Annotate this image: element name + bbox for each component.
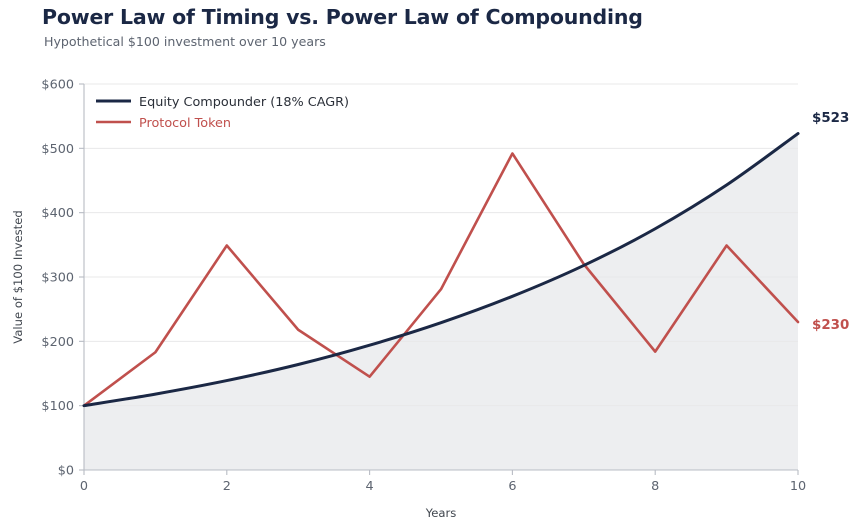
y-tick-label: $600 bbox=[41, 78, 74, 93]
x-axis-title: Years bbox=[425, 506, 457, 520]
legend-label-protocol-token: Protocol Token bbox=[139, 116, 231, 131]
x-tick-label: 2 bbox=[223, 479, 231, 494]
end-value-label-protocol: $230 bbox=[812, 318, 849, 333]
x-tick-label: 0 bbox=[80, 479, 88, 494]
x-tick-label: 6 bbox=[508, 479, 516, 494]
chart-legend: Equity Compounder (18% CAGR) Protocol To… bbox=[96, 95, 349, 131]
y-tick-label: $500 bbox=[41, 142, 74, 157]
y-tick-label: $100 bbox=[41, 399, 74, 414]
chart-figure: Power Law of Timing vs. Power Law of Com… bbox=[0, 0, 860, 531]
equity-area-fill bbox=[84, 134, 798, 470]
x-axis-tick-labels: 0246810 bbox=[80, 479, 806, 494]
x-axis-ticks bbox=[84, 470, 798, 475]
y-tick-label: $200 bbox=[41, 335, 74, 350]
x-tick-label: 4 bbox=[366, 479, 374, 494]
y-tick-label: $400 bbox=[41, 206, 74, 221]
legend-label-equity-compounder: Equity Compounder (18% CAGR) bbox=[139, 95, 349, 110]
end-value-label-equity: $523 bbox=[812, 111, 849, 126]
y-tick-label: $300 bbox=[41, 271, 74, 286]
x-tick-label: 10 bbox=[790, 479, 806, 494]
plot-area: $0$100$200$300$400$500$600 0246810 Value… bbox=[0, 0, 860, 531]
y-axis-title: Value of $100 Invested bbox=[11, 210, 25, 343]
x-tick-label: 8 bbox=[651, 479, 659, 494]
y-axis-tick-labels: $0$100$200$300$400$500$600 bbox=[41, 78, 74, 479]
y-tick-label: $0 bbox=[58, 464, 74, 479]
y-axis-ticks bbox=[79, 84, 84, 470]
